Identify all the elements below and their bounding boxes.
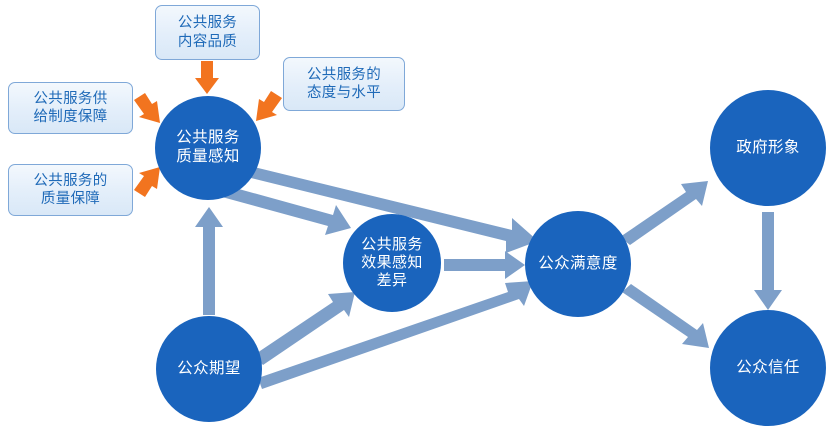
box-supply-system-guarantee-label: 公共服务供 给制度保障 xyxy=(34,90,108,127)
edge-attitude-to-quality-icon xyxy=(256,91,282,121)
box-service-quality-guarantee[interactable]: 公共服务的 质量保障 xyxy=(8,164,133,216)
box-service-content-quality-label: 公共服务 内容品质 xyxy=(178,14,237,51)
node-public-trust-label: 公众信任 xyxy=(732,359,804,378)
node-government-image-label: 政府形象 xyxy=(732,139,804,158)
node-public-trust[interactable]: 公众信任 xyxy=(710,310,826,426)
edge-expectation-to-quality-icon xyxy=(195,207,223,315)
node-government-image[interactable]: 政府形象 xyxy=(710,90,826,206)
node-satisfaction-label: 公众满意度 xyxy=(534,255,622,274)
node-quality-perception[interactable]: 公共服务 质量感知 xyxy=(155,96,261,200)
box-service-attitude-level-label: 公共服务的 态度与水平 xyxy=(307,66,381,103)
node-satisfaction[interactable]: 公众满意度 xyxy=(525,211,631,317)
box-service-content-quality[interactable]: 公共服务 内容品质 xyxy=(155,5,260,60)
edge-supply-to-quality-icon xyxy=(134,93,160,123)
node-effect-gap[interactable]: 公共服务 效果感知 差异 xyxy=(343,214,441,312)
edge-gap-to-satisfaction-icon xyxy=(444,251,525,279)
node-effect-gap-label: 公共服务 效果感知 差异 xyxy=(357,236,427,291)
node-public-expectation-label: 公众期望 xyxy=(173,360,245,379)
node-public-expectation[interactable]: 公众期望 xyxy=(156,316,262,422)
box-supply-system-guarantee[interactable]: 公共服务供 给制度保障 xyxy=(8,82,133,134)
edge-image-to-trust-icon xyxy=(754,212,782,310)
box-service-attitude-level[interactable]: 公共服务的 态度与水平 xyxy=(283,57,405,111)
box-service-quality-guarantee-label: 公共服务的 质量保障 xyxy=(34,172,108,209)
edge-satisfaction-to-image-icon xyxy=(620,181,708,245)
edge-expectation-to-gap-icon xyxy=(254,292,355,365)
edge-guarantee-to-quality-icon xyxy=(134,167,160,197)
edge-satisfaction-to-trust-icon xyxy=(622,284,709,348)
edge-content-to-quality-icon xyxy=(195,61,219,94)
diagram-canvas: 公共服务 质量感知 公共服务 效果感知 差异 公众满意度 政府形象 公众信任 公… xyxy=(0,0,830,438)
edge-quality-to-gap-icon xyxy=(222,186,351,235)
node-quality-perception-label: 公共服务 质量感知 xyxy=(172,129,244,167)
